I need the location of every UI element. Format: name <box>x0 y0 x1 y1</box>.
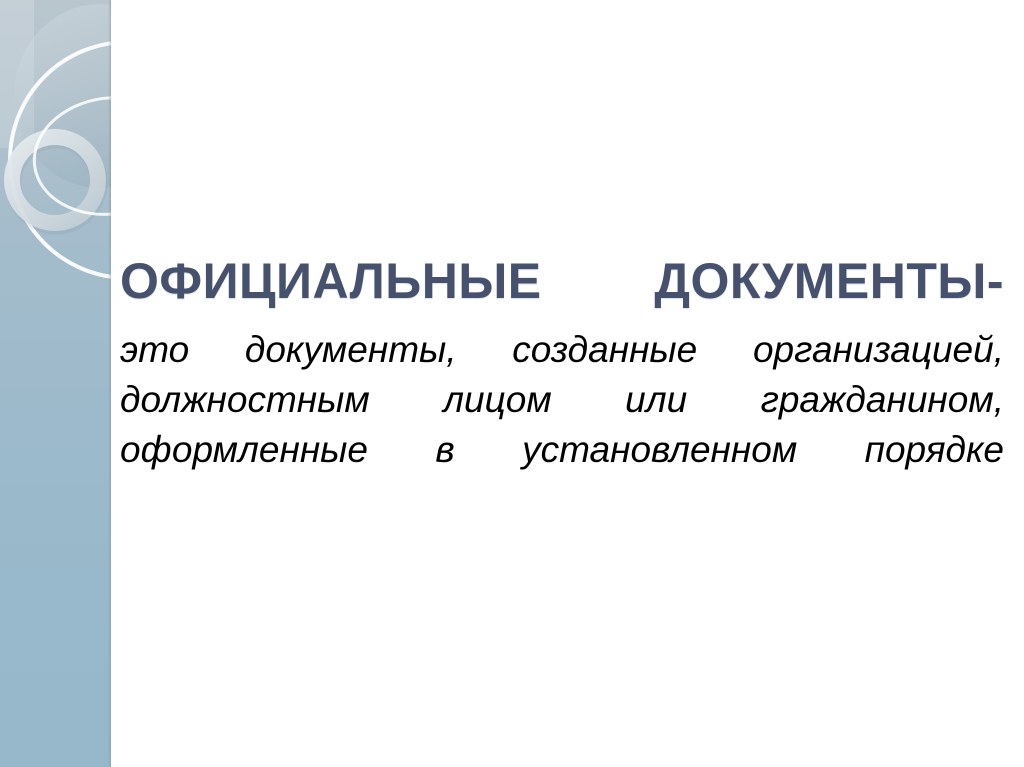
body-line-2: должностным лицом или гражданином, <box>120 375 1004 425</box>
body-line-3: оформленные в установленном порядке <box>120 425 1004 475</box>
decorative-sidebar <box>0 0 111 767</box>
sidebar-edge-line <box>108 0 111 767</box>
slide-canvas: ОФИЦИАЛЬНЫЕ ДОКУМЕНТЫ- это документы, со… <box>0 0 1024 767</box>
sidebar-decoration-svg <box>0 0 111 767</box>
slide-content: ОФИЦИАЛЬНЫЕ ДОКУМЕНТЫ- это документы, со… <box>120 0 1004 767</box>
slide-body: это документы, созданные организацией, д… <box>120 325 1004 475</box>
body-line-1: это документы, созданные организацией, <box>120 325 1004 375</box>
slide-title: ОФИЦИАЛЬНЫЕ ДОКУМЕНТЫ- <box>120 252 1004 310</box>
